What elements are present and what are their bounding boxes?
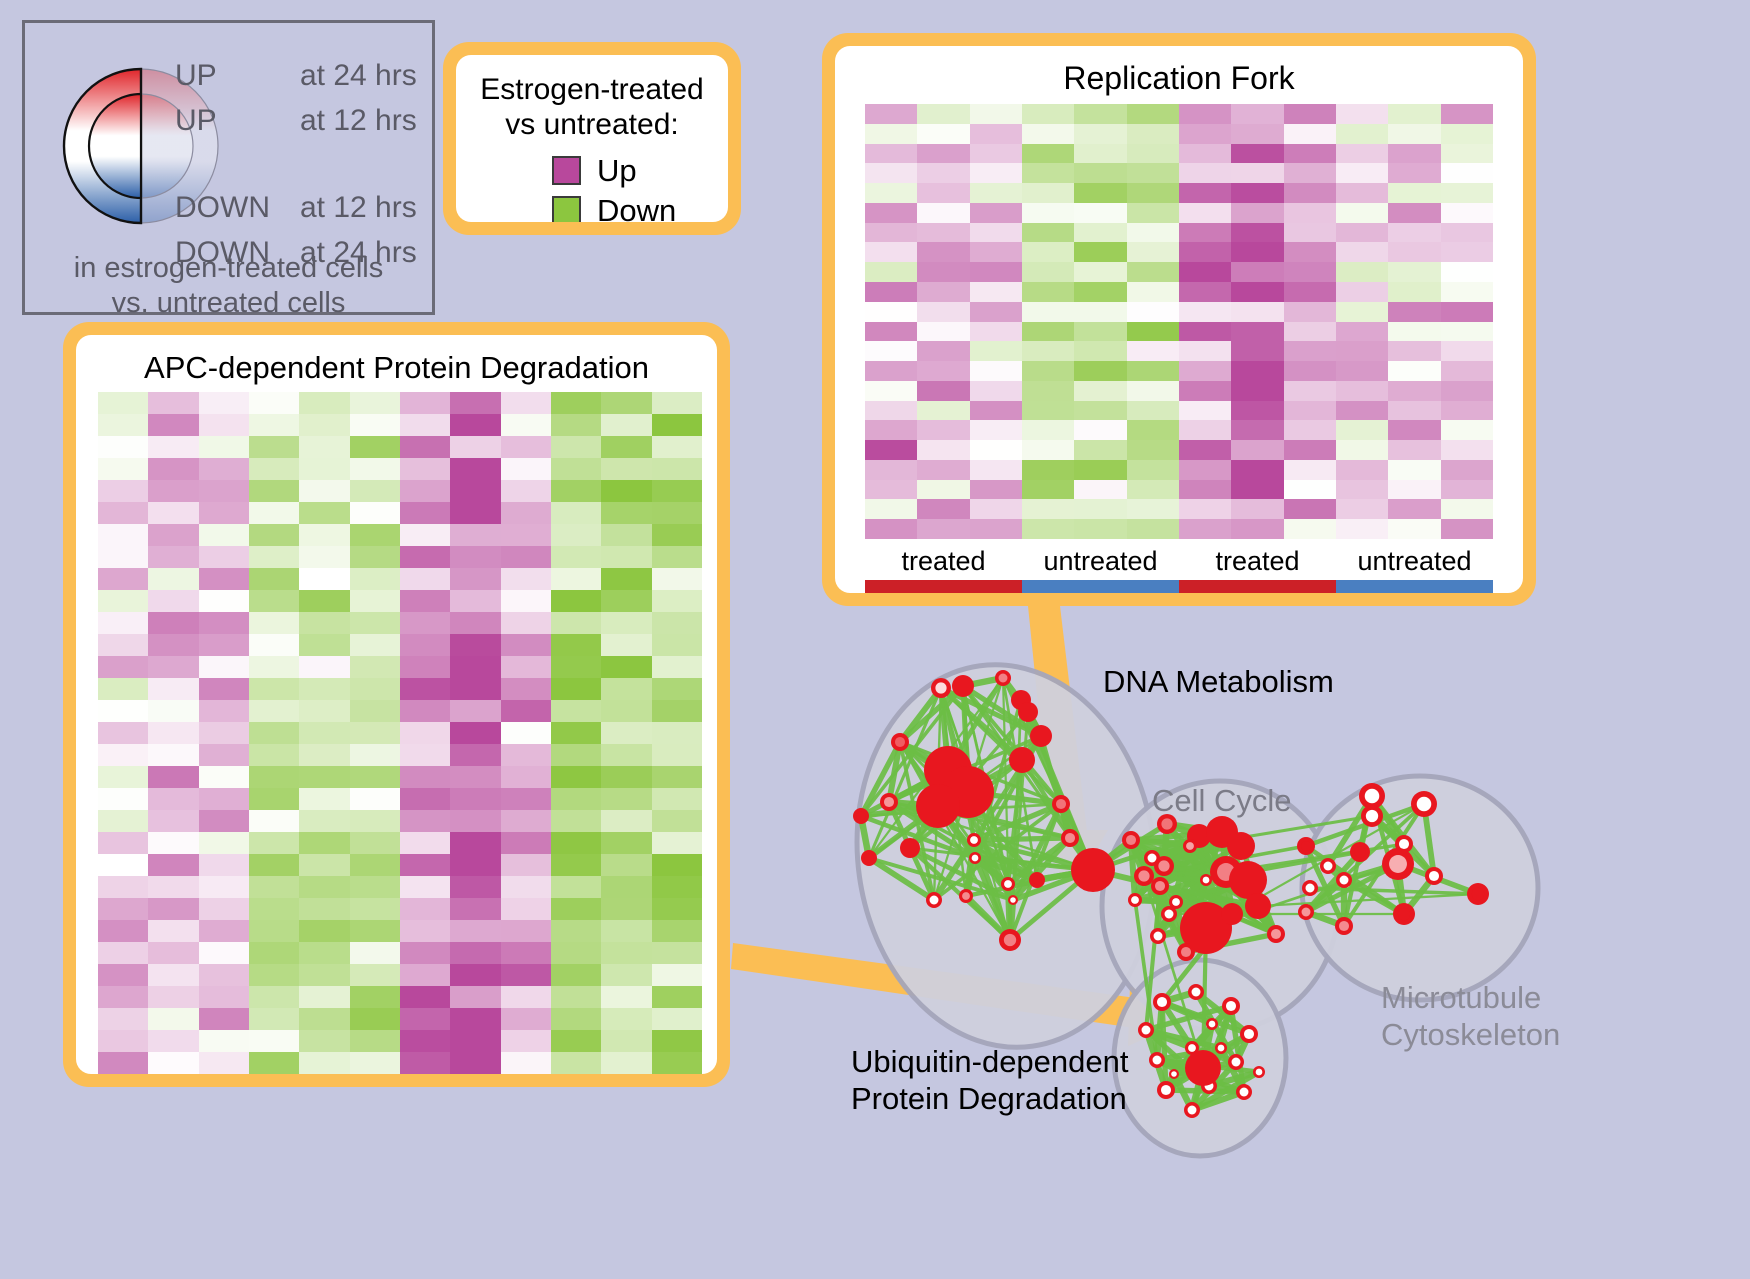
network-node-core bbox=[1131, 896, 1139, 904]
network-node-core bbox=[1244, 1029, 1254, 1039]
network-node-core bbox=[1256, 1069, 1263, 1076]
label-line-1: Ubiquitin-dependent bbox=[851, 1043, 1129, 1080]
network-node-core bbox=[1165, 910, 1174, 919]
network-node-core bbox=[1324, 862, 1333, 871]
network-node-core bbox=[999, 674, 1008, 683]
network-node-core bbox=[1302, 908, 1311, 917]
network-node-core bbox=[1161, 1085, 1171, 1095]
network-node[interactable] bbox=[916, 784, 960, 828]
network-node-core bbox=[1306, 884, 1315, 893]
network-node-core bbox=[1429, 871, 1439, 881]
network-node-core bbox=[1192, 988, 1201, 997]
label-line-2: Cytoskeleton bbox=[1381, 1016, 1560, 1053]
network-node-core bbox=[1365, 789, 1380, 804]
network-node[interactable] bbox=[1009, 747, 1035, 773]
network-node-core bbox=[1340, 876, 1349, 885]
network-node-core bbox=[895, 737, 905, 747]
network-node-core bbox=[1161, 818, 1172, 829]
network-node-core bbox=[1399, 839, 1409, 849]
network-node-core bbox=[1232, 1058, 1241, 1067]
network-node-core bbox=[1218, 1045, 1225, 1052]
network-node-core bbox=[1181, 947, 1191, 957]
network-node-core bbox=[1004, 880, 1012, 888]
cluster-label-ubiquitin-degradation: Ubiquitin-dependent Protein Degradation bbox=[851, 1043, 1129, 1117]
network-node-core bbox=[1186, 842, 1194, 850]
network-node[interactable] bbox=[1245, 893, 1271, 919]
network-node-core bbox=[962, 892, 970, 900]
network-node-core bbox=[930, 896, 939, 905]
label-line-1: Microtubule bbox=[1381, 979, 1560, 1016]
network-node-core bbox=[1153, 1056, 1162, 1065]
network-node-core bbox=[1033, 876, 1042, 885]
network-node-core bbox=[1389, 855, 1407, 873]
network-node-core bbox=[1056, 799, 1066, 809]
network-node-core bbox=[1148, 854, 1157, 863]
network-node-core bbox=[865, 854, 874, 863]
network-node-core bbox=[1171, 1071, 1177, 1077]
network-node-core bbox=[1398, 908, 1410, 920]
network-node-core bbox=[1172, 898, 1180, 906]
network-node[interactable] bbox=[1221, 903, 1243, 925]
network-node-core bbox=[970, 836, 978, 844]
network-node-core bbox=[857, 812, 866, 821]
network-node-core bbox=[1157, 997, 1167, 1007]
network-node-core bbox=[1301, 841, 1311, 851]
network-node-core bbox=[1065, 833, 1075, 843]
network-node-core bbox=[1188, 1044, 1196, 1052]
network-node-core bbox=[1004, 934, 1016, 946]
figure-canvas: UP at 24 hrs UP at 12 hrs DOWN at 12 hrs… bbox=[0, 0, 1750, 1279]
network-node-core bbox=[1010, 897, 1016, 903]
network-node[interactable] bbox=[952, 675, 974, 697]
network-node-core bbox=[1142, 1026, 1151, 1035]
network-node-core bbox=[972, 855, 979, 862]
network-node-core bbox=[1339, 921, 1349, 931]
network-node-core bbox=[1188, 1106, 1197, 1115]
network-node[interactable] bbox=[1030, 725, 1052, 747]
network-node-core bbox=[1138, 870, 1149, 881]
network-node[interactable] bbox=[900, 838, 920, 858]
network-node-core bbox=[1155, 881, 1165, 891]
network-node[interactable] bbox=[1071, 848, 1115, 892]
network-node[interactable] bbox=[1018, 702, 1038, 722]
network-node-core bbox=[1158, 860, 1169, 871]
cluster-label-microtubule-cytoskeleton: Microtubule Cytoskeleton bbox=[1381, 979, 1560, 1053]
network-node-core bbox=[1226, 1001, 1236, 1011]
network-node-core bbox=[1271, 929, 1281, 939]
network-node-core bbox=[1472, 888, 1484, 900]
network-node-core bbox=[1417, 797, 1432, 812]
network-node-core bbox=[1240, 1088, 1249, 1097]
network-node-core bbox=[1366, 810, 1378, 822]
network-node[interactable] bbox=[1229, 861, 1267, 899]
network-node-core bbox=[1154, 932, 1163, 941]
network-node-core bbox=[1126, 835, 1136, 845]
network-node-core bbox=[1354, 846, 1365, 857]
network-node-core bbox=[935, 682, 946, 693]
network-node-core bbox=[1209, 1021, 1216, 1028]
network-node[interactable] bbox=[1227, 832, 1255, 860]
cluster-label-dna-metabolism: DNA Metabolism bbox=[1103, 663, 1334, 700]
network-node[interactable] bbox=[1185, 1050, 1221, 1086]
network-node-core bbox=[884, 797, 894, 807]
cluster-label-cell-cycle: Cell Cycle bbox=[1152, 782, 1292, 819]
network-node-core bbox=[1203, 877, 1210, 884]
label-line-2: Protein Degradation bbox=[851, 1080, 1129, 1117]
